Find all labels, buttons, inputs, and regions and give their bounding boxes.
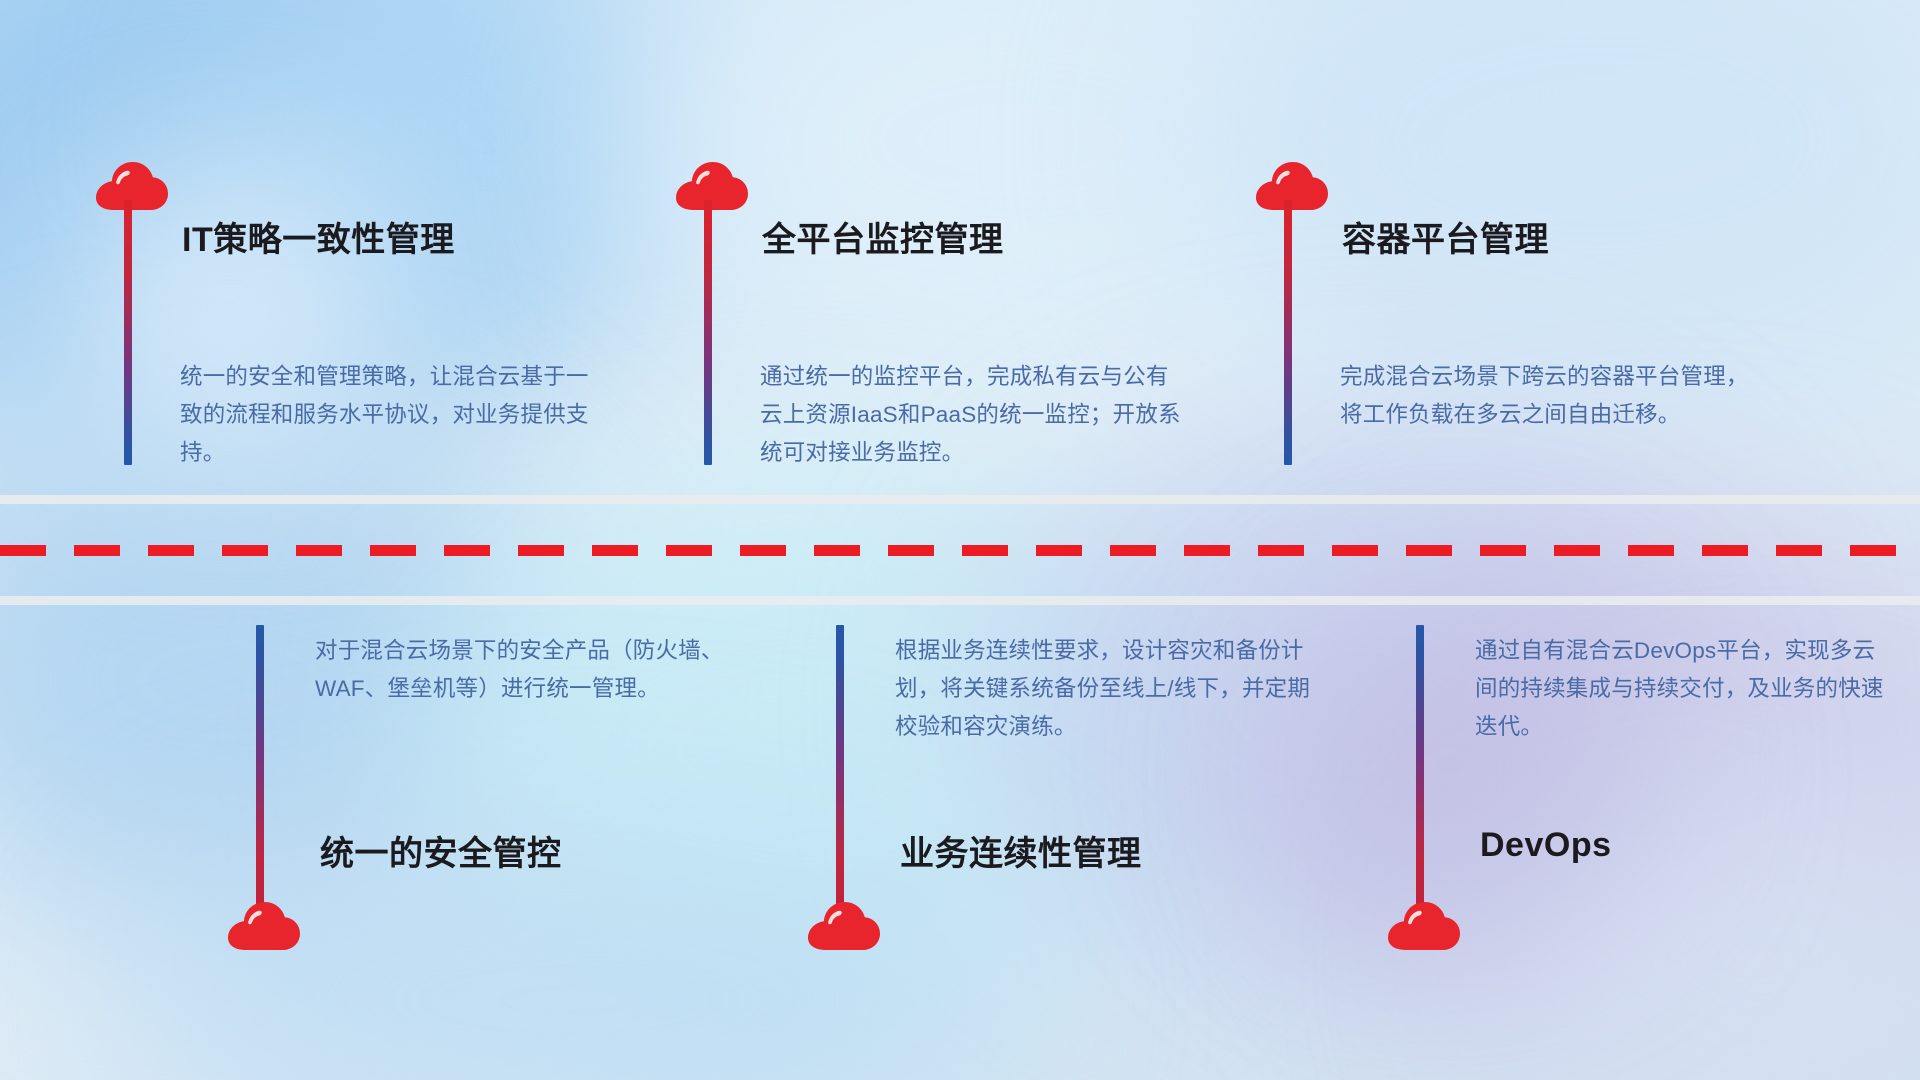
card-body-unified-security: 对于混合云场景下的安全产品（防火墙、WAF、堡垒机等）进行统一管理。 [315, 632, 735, 708]
divider-rule-bottom [0, 596, 1920, 605]
body-text: 对于混合云场景下的安全产品（防火墙、WAF、堡垒机等）进行统一管理。 [315, 632, 735, 708]
body-text: 通过统一的监控平台，完成私有云与公有云上资源IaaS和PaaS的统一监控；开放系… [760, 358, 1185, 472]
cloud-icon [806, 900, 882, 952]
card-title-full-platform-monitoring: 全平台监控管理 [762, 212, 1004, 261]
heading-text: IT策略一致性管理 [182, 212, 455, 261]
heading-text: DevOps [1480, 826, 1612, 865]
card-title-business-continuity: 业务连续性管理 [900, 826, 1142, 875]
cloud-icon [226, 900, 302, 952]
cloud-icon [674, 160, 750, 212]
card-body-devops: 通过自有混合云DevOps平台，实现多云间的持续集成与持续交付，及业务的快速迭代… [1475, 632, 1895, 746]
card-body-it-policy-consistency: 统一的安全和管理策略，让混合云基于一致的流程和服务水平协议，对业务提供支持。 [180, 358, 605, 472]
cloud-icon [94, 160, 170, 212]
divider-rule-top [0, 495, 1920, 504]
heading-text: 容器平台管理 [1342, 212, 1549, 261]
card-title-devops: DevOps [1480, 826, 1612, 865]
card-body-business-continuity: 根据业务连续性要求，设计容灾和备份计划，将关键系统备份至线上/线下，并定期校验和… [895, 632, 1315, 746]
heading-text: 业务连续性管理 [900, 826, 1142, 875]
body-text: 统一的安全和管理策略，让混合云基于一致的流程和服务水平协议，对业务提供支持。 [180, 358, 605, 472]
divider-dashed-line [0, 545, 1920, 556]
heading-text: 统一的安全管控 [320, 826, 562, 875]
card-title-it-policy-consistency: IT策略一致性管理 [182, 212, 455, 261]
body-text: 根据业务连续性要求，设计容灾和备份计划，将关键系统备份至线上/线下，并定期校验和… [895, 632, 1315, 746]
card-body-full-platform-monitoring: 通过统一的监控平台，完成私有云与公有云上资源IaaS和PaaS的统一监控；开放系… [760, 358, 1185, 472]
card-title-container-platform: 容器平台管理 [1342, 212, 1549, 261]
card-body-container-platform: 完成混合云场景下跨云的容器平台管理，将工作负载在多云之间自由迁移。 [1340, 358, 1765, 434]
cloud-icon [1386, 900, 1462, 952]
heading-text: 全平台监控管理 [762, 212, 1004, 261]
cloud-icon [1254, 160, 1330, 212]
card-title-unified-security: 统一的安全管控 [320, 826, 562, 875]
infographic-canvas: IT策略一致性管理 统一的安全和管理策略，让混合云基于一致的流程和服务水平协议，… [0, 0, 1920, 1080]
body-text: 完成混合云场景下跨云的容器平台管理，将工作负载在多云之间自由迁移。 [1340, 358, 1765, 434]
body-text: 通过自有混合云DevOps平台，实现多云间的持续集成与持续交付，及业务的快速迭代… [1475, 632, 1895, 746]
